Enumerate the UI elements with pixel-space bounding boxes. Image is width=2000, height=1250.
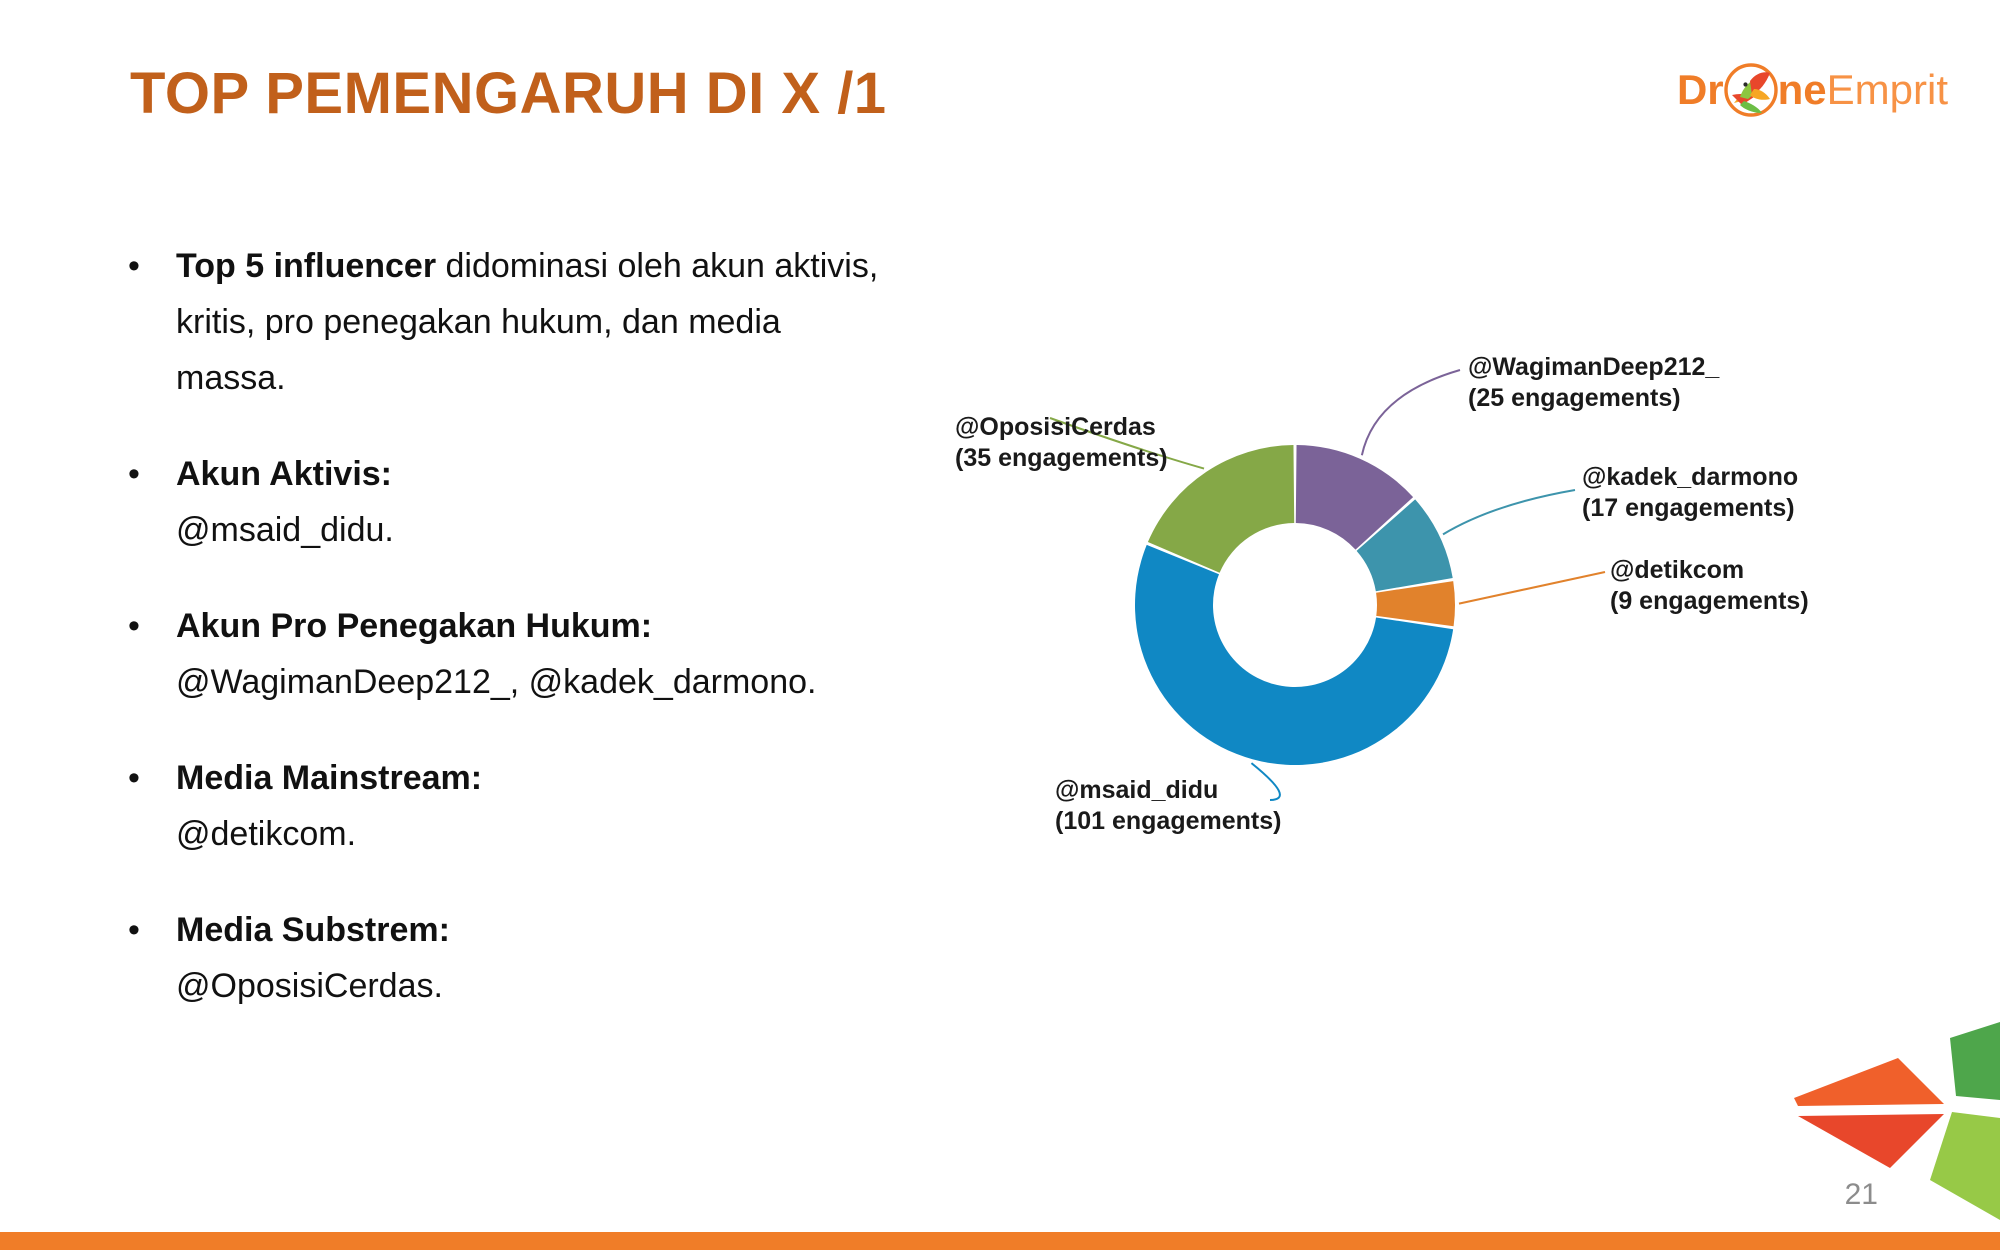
bullet-marker-icon: •: [128, 238, 176, 406]
callout-value-detikcom: (9 engagements): [1610, 586, 1809, 617]
bullet-item-4: • Media Substrem: @OposisiCerdas.: [128, 902, 888, 1014]
callout-label-oposisicerdas: @OposisiCerdas (35 engagements): [955, 412, 1168, 473]
callout-value-wagimandeep212: (25 engagements): [1468, 383, 1719, 414]
bullet-sub-2: @WagimanDeep212_, @kadek_darmono.: [176, 654, 888, 710]
bullet-item-0: • Top 5 influencer didominasi oleh akun …: [128, 238, 888, 406]
logo-text-emprit: Emprit: [1827, 69, 1948, 111]
bullet-marker-icon: •: [128, 902, 176, 1014]
bullet-text-2: Akun Pro Penegakan Hukum: @WagimanDeep21…: [176, 598, 888, 710]
bullet-item-3: • Media Mainstream: @detikcom.: [128, 750, 888, 862]
callout-name-msaid-didu: @msaid_didu: [1055, 775, 1281, 806]
donut-chart-svg: [960, 300, 1960, 940]
bullet-head-0: Top 5 influencer: [176, 247, 436, 285]
slide-canvas: TOP PEMENGARUH DI X /1 Dr ne Emprit • To…: [0, 0, 2000, 1250]
callout-value-msaid-didu: (101 engagements): [1055, 806, 1281, 837]
bullet-head-2: Akun Pro Penegakan Hukum:: [176, 607, 652, 645]
callout-value-kadek-darmono: (17 engagements): [1582, 493, 1798, 524]
donut-slice[interactable]: [1148, 445, 1294, 573]
callout-label-detikcom: @detikcom (9 engagements): [1610, 555, 1809, 616]
callout-name-kadek-darmono: @kadek_darmono: [1582, 462, 1798, 493]
bullet-sub-4: @OposisiCerdas.: [176, 958, 888, 1014]
bullet-text-1: Akun Aktivis: @msaid_didu.: [176, 446, 888, 558]
bullet-list: • Top 5 influencer didominasi oleh akun …: [128, 238, 888, 1054]
bullet-text-0: Top 5 influencer didominasi oleh akun ak…: [176, 238, 888, 406]
logo-text-dr: Dr: [1677, 69, 1724, 111]
bullet-item-2: • Akun Pro Penegakan Hukum: @WagimanDeep…: [128, 598, 888, 710]
bullet-marker-icon: •: [128, 446, 176, 558]
bullet-sub-3: @detikcom.: [176, 806, 888, 862]
bottom-accent-bar: [0, 1232, 2000, 1250]
bullet-marker-icon: •: [128, 598, 176, 710]
donut-leader-line: [1362, 370, 1460, 455]
bullet-marker-icon: •: [128, 750, 176, 862]
bullet-head-1: Akun Aktivis:: [176, 455, 392, 493]
callout-value-oposisicerdas: (35 engagements): [955, 443, 1168, 474]
engagement-donut-chart: @OposisiCerdas (35 engagements) @Wagiman…: [960, 300, 1960, 940]
callout-name-wagimandeep212: @WagimanDeep212_: [1468, 352, 1719, 383]
callout-label-wagimandeep212: @WagimanDeep212_ (25 engagements): [1468, 352, 1719, 413]
callout-label-kadek-darmono: @kadek_darmono (17 engagements): [1582, 462, 1798, 523]
logo-text-ne: ne: [1778, 69, 1827, 111]
drone-emprit-logo: Dr ne Emprit: [1677, 58, 1948, 122]
callout-name-oposisicerdas: @OposisiCerdas: [955, 412, 1168, 443]
bullet-text-4: Media Substrem: @OposisiCerdas.: [176, 902, 888, 1014]
bullet-text-3: Media Mainstream: @detikcom.: [176, 750, 888, 862]
callout-name-detikcom: @detikcom: [1610, 555, 1809, 586]
donut-leader-line: [1459, 572, 1605, 604]
bullet-head-3: Media Mainstream:: [176, 759, 482, 797]
drone-emprit-bird-icon: [1720, 59, 1782, 121]
donut-slices: [1135, 445, 1455, 765]
donut-leader-line: [1443, 490, 1575, 534]
bullet-head-4: Media Substrem:: [176, 911, 450, 949]
corner-decoration: [1780, 1020, 2000, 1250]
bullet-sub-1: @msaid_didu.: [176, 502, 888, 558]
callout-label-msaid-didu: @msaid_didu (101 engagements): [1055, 775, 1281, 836]
page-title: TOP PEMENGARUH DI X /1: [130, 60, 887, 127]
bullet-item-1: • Akun Aktivis: @msaid_didu.: [128, 446, 888, 558]
